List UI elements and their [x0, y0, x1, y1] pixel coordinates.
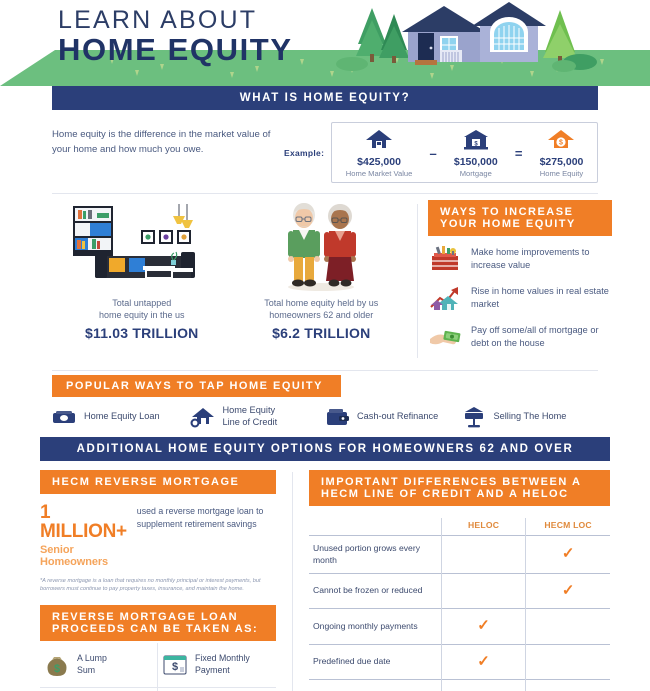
- ways-item-label: Make home improvements to increase value: [471, 246, 612, 273]
- calendar-dollar-icon: $: [162, 653, 188, 677]
- stat-caption-line2: home equity in the us: [99, 310, 185, 320]
- example-caption: Mortgage: [454, 169, 498, 178]
- page-title-line2: HOME EQUITY: [58, 32, 293, 68]
- example-home-equity: $ $275,000 Home Equity: [540, 128, 584, 178]
- example-amount: $150,000: [454, 156, 498, 168]
- row-feature: Predefined due date: [309, 644, 441, 679]
- stats-group: Total untapped home equity in the us $11…: [0, 200, 411, 362]
- hecm-stat-big: 1 MILLION+: [40, 503, 127, 541]
- additional-options-banner: ADDITIONAL HOME EQUITY OPTIONS FOR HOMEO…: [40, 437, 610, 461]
- example-amount: $275,000: [540, 156, 584, 168]
- proceeds-item-fixed-monthly: $ Fixed MonthlyPayment: [158, 643, 276, 688]
- money-bag-icon: $: [44, 652, 70, 678]
- popular-item-selling-home: Selling The Home: [462, 405, 599, 429]
- operator-minus: –: [427, 146, 438, 161]
- popular-item-label: Selling The Home: [494, 411, 567, 423]
- ways-to-increase-section: WAYS TO INCREASE YOUR HOME EQUITY: [428, 200, 650, 362]
- row-heloc-value: ✓: [441, 644, 525, 679]
- additional-banner-wrap: ADDITIONAL HOME EQUITY OPTIONS FOR HOMEO…: [40, 437, 610, 461]
- ways-banner-line1: WAYS TO INCREASE: [440, 206, 600, 218]
- row-hecm-value: ✓: [526, 679, 610, 691]
- row-heloc-value: ✓: [441, 609, 525, 644]
- example-mortgage: $ $150,000 Mortgage: [454, 128, 498, 178]
- what-is-section: Home equity is the difference in the mar…: [0, 110, 650, 193]
- heloc-comparison-table: HELOC HECM LOC Unused portion grows ever…: [309, 518, 610, 691]
- comparison-column: IMPORTANT DIFFERENCES BETWEEN A HECM LIN…: [309, 470, 610, 691]
- row-hecm-value: [526, 609, 610, 644]
- stat-caption: Total home equity held by us homeowners …: [236, 297, 408, 321]
- popular-ways-list: Home Equity Loan Home EquityLine of Cred…: [52, 405, 598, 437]
- comparison-banner-line2: HECM LINE OF CREDIT AND A HELOC: [321, 488, 598, 500]
- ways-item-payoff: Pay off some/all of mortgage or debt on …: [428, 323, 612, 351]
- table-row: Non-recourse loan ✓: [309, 679, 610, 691]
- example-caption: Home Equity: [540, 169, 584, 178]
- popular-item-home-equity-loan: Home Equity Loan: [52, 405, 189, 429]
- hecm-column: HECM REVERSE MORTGAGE 1 MILLION+ Senior …: [40, 470, 290, 691]
- table-row: Ongoing monthly payments ✓: [309, 609, 610, 644]
- column-header-hecm-loc: HECM LOC: [526, 518, 610, 536]
- hecm-fineprint: *A reverse mortgage is a loan that requi…: [40, 577, 276, 594]
- svg-text:$: $: [172, 661, 178, 673]
- proceeds-banner-line1: REVERSE MORTGAGE LOAN: [52, 611, 264, 623]
- row-heloc-value: [441, 679, 525, 691]
- for-sale-sign-icon: [462, 406, 486, 428]
- table-row: Predefined due date ✓: [309, 644, 610, 679]
- toolbox-icon: [428, 245, 462, 273]
- stats-and-ways-section: Total untapped home equity in the us $11…: [0, 194, 650, 370]
- column-header-heloc: HELOC: [441, 518, 525, 536]
- row-hecm-value: ✓: [526, 574, 610, 609]
- bank-icon: $: [462, 128, 490, 150]
- row-hecm-value: ✓: [526, 535, 610, 573]
- svg-text:$: $: [560, 140, 564, 147]
- page-title: LEARN ABOUT HOME EQUITY: [58, 6, 293, 68]
- hand-cash-icon: [428, 323, 462, 351]
- row-heloc-value: [441, 574, 525, 609]
- hero-section: LEARN ABOUT HOME EQUITY: [0, 0, 650, 86]
- hecm-stat-figure: 1 MILLION+ Senior Homeowners: [40, 503, 127, 568]
- popular-ways-banner: POPULAR WAYS TO TAP HOME EQUITY: [52, 375, 341, 397]
- row-feature: Ongoing monthly payments: [309, 609, 441, 644]
- table-row: Unused portion grows every month ✓: [309, 535, 610, 573]
- navy-house-icon: [365, 128, 393, 150]
- proceeds-banner-line2: PROCEEDS CAN BE TAKEN AS:: [52, 623, 264, 635]
- column-header-feature: [309, 518, 441, 536]
- popular-item-cashout-refinance: Cash-out Refinance: [325, 405, 462, 429]
- ways-item-label: Rise in home values in real estate marke…: [471, 285, 612, 312]
- ways-item-label: Pay off some/all of mortgage or debt on …: [471, 324, 612, 351]
- table-header-row: HELOC HECM LOC: [309, 518, 610, 536]
- hecm-stat: 1 MILLION+ Senior Homeowners used a reve…: [40, 503, 276, 568]
- row-feature: Unused portion grows every month: [309, 535, 441, 573]
- ways-banner-line2: YOUR HOME EQUITY: [440, 218, 600, 230]
- example-market-value: $425,000 Home Market Value: [346, 128, 413, 178]
- stat-untapped-equity: Total untapped home equity in the us $11…: [52, 200, 232, 362]
- hecm-stat-plus: +: [116, 521, 127, 542]
- additional-options-body: HECM REVERSE MORTGAGE 1 MILLION+ Senior …: [0, 470, 650, 691]
- stat-caption-line1: Total home equity held by us: [264, 298, 378, 308]
- home-equity-description: Home equity is the difference in the mar…: [52, 122, 284, 158]
- proceeds-item-lump-sum: $ A LumpSum: [40, 643, 158, 688]
- stat-caption-line2: homeowners 62 and older: [269, 310, 373, 320]
- vertical-divider: [417, 204, 418, 358]
- example-box: $425,000 Home Market Value – $ $150,000 …: [331, 122, 598, 183]
- popular-item-label: Home Equity Loan: [84, 411, 160, 423]
- stat-value: $6.2 TRILLION: [236, 325, 408, 341]
- infographic-page: LEARN ABOUT HOME EQUITY: [0, 0, 650, 691]
- stat-senior-equity: Total home equity held by us homeowners …: [232, 200, 412, 362]
- what-is-banner-wrap: WHAT IS HOME EQUITY?: [52, 86, 598, 110]
- house-with-trees-illustration: [332, 0, 622, 86]
- popular-ways-section: POPULAR WAYS TO TAP HOME EQUITY Home Equ…: [0, 371, 650, 437]
- hecm-stat-note: used a reverse mortgage loan to suppleme…: [137, 503, 276, 531]
- table-row: Cannot be frozen or reduced ✓: [309, 574, 610, 609]
- page-title-line1: LEARN ABOUT: [58, 6, 293, 35]
- row-feature: Non-recourse loan: [309, 679, 441, 691]
- operator-equals: =: [513, 146, 525, 161]
- senior-couple-illustration: [236, 200, 408, 292]
- ways-item-improvements: Make home improvements to increase value: [428, 245, 612, 273]
- row-hecm-value: [526, 644, 610, 679]
- hecm-stat-sub: Senior Homeowners: [40, 544, 127, 568]
- hecm-banner: HECM REVERSE MORTGAGE: [40, 470, 276, 494]
- column-divider: [292, 472, 293, 691]
- proceeds-banner: REVERSE MORTGAGE LOAN PROCEEDS CAN BE TA…: [40, 605, 276, 641]
- svg-text:$: $: [54, 663, 60, 675]
- ways-item-value-rise: Rise in home values in real estate marke…: [428, 284, 612, 312]
- row-heloc-value: [441, 535, 525, 573]
- orange-house-dollar-icon: $: [547, 128, 575, 150]
- popular-item-label: Home EquityLine of Credit: [223, 405, 278, 429]
- example-caption: Home Market Value: [346, 169, 413, 178]
- ways-list: Make home improvements to increase value…: [428, 245, 612, 351]
- ways-to-increase-banner: WAYS TO INCREASE YOUR HOME EQUITY: [428, 200, 612, 236]
- proceeds-item-label: Fixed MonthlyPayment: [195, 653, 250, 677]
- living-room-illustration: [56, 200, 228, 292]
- row-feature: Cannot be frozen or reduced: [309, 574, 441, 609]
- stat-caption-line1: Total untapped: [112, 298, 171, 308]
- comparison-banner-line1: IMPORTANT DIFFERENCES BETWEEN A: [321, 476, 598, 488]
- house-coin-icon: [189, 406, 215, 428]
- popular-item-heloc: Home EquityLine of Credit: [189, 405, 326, 429]
- example-amount: $425,000: [346, 156, 413, 168]
- wallet-icon: [325, 407, 349, 427]
- proceeds-grid: $ A LumpSum $ Fixed MonthlyPayment: [40, 643, 276, 691]
- cash-stack-icon: [52, 408, 76, 426]
- comparison-banner: IMPORTANT DIFFERENCES BETWEEN A HECM LIN…: [309, 470, 610, 506]
- example-calculation: Example: $425,000 Home Market Value –: [284, 122, 598, 183]
- proceeds-item-label: A LumpSum: [77, 653, 107, 677]
- house-rising-arrow-icon: [428, 284, 462, 312]
- stat-caption: Total untapped home equity in the us: [56, 297, 228, 321]
- what-is-banner: WHAT IS HOME EQUITY?: [52, 86, 598, 110]
- hecm-stat-number: 1 MILLION: [40, 502, 116, 542]
- popular-item-label: Cash-out Refinance: [357, 411, 438, 423]
- stat-value: $11.03 TRILLION: [56, 325, 228, 341]
- example-label: Example:: [284, 148, 324, 158]
